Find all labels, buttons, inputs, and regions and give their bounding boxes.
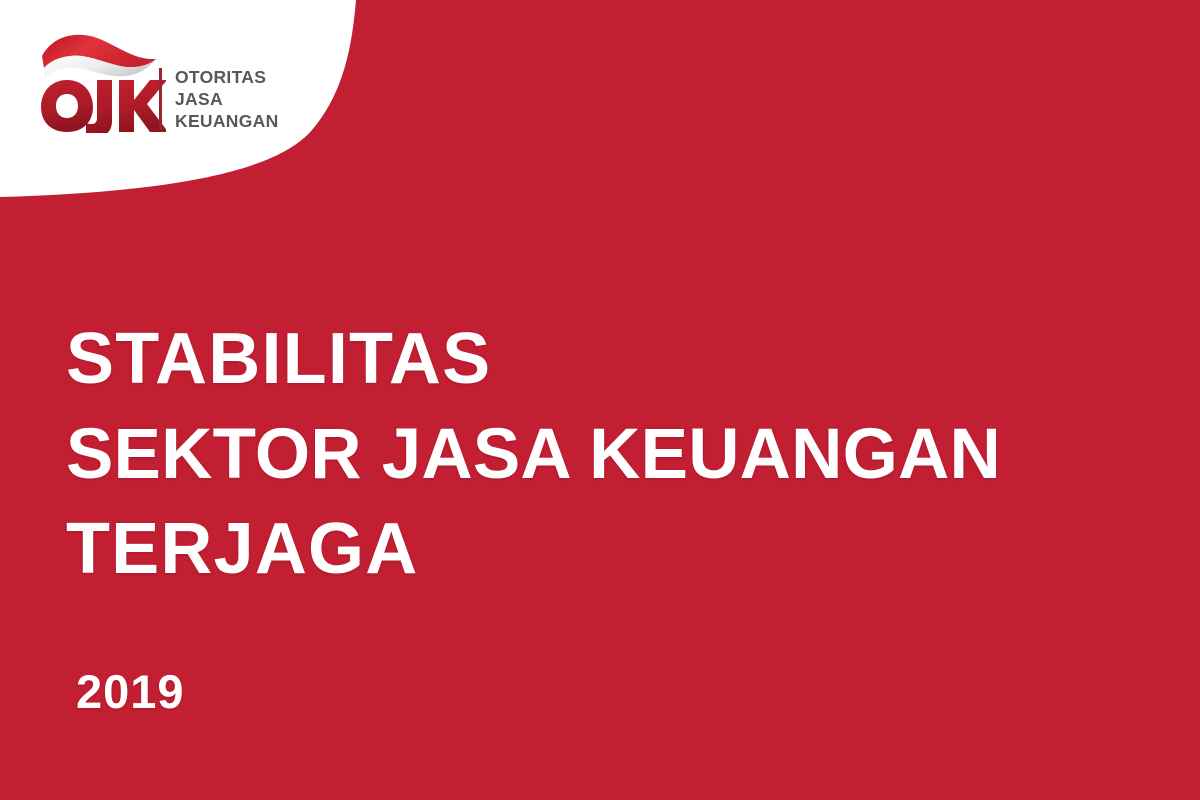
ojk-logomark-icon: [36, 28, 166, 133]
page-title-line-2: SEKTOR JASA KEUANGAN: [66, 407, 1176, 502]
logo-wordmark: OTORITAS JASA KEUANGAN: [175, 66, 279, 132]
page-title: STABILITAS SEKTOR JASA KEUANGAN TERJAGA: [66, 312, 1176, 597]
logo-wordmark-line-1: OTORITAS: [175, 66, 279, 88]
page-title-line-3: TERJAGA: [66, 502, 1176, 597]
logo-divider: [159, 68, 162, 130]
logo-wordmark-line-2: JASA: [175, 88, 279, 110]
cover-slide: OTORITAS JASA KEUANGAN STABILITAS SEKTOR…: [0, 0, 1200, 800]
logo-wordmark-line-3: KEUANGAN: [175, 110, 279, 132]
year-label: 2019: [76, 668, 185, 715]
page-title-line-1: STABILITAS: [66, 312, 1176, 407]
ojk-logo: OTORITAS JASA KEUANGAN: [36, 28, 316, 138]
